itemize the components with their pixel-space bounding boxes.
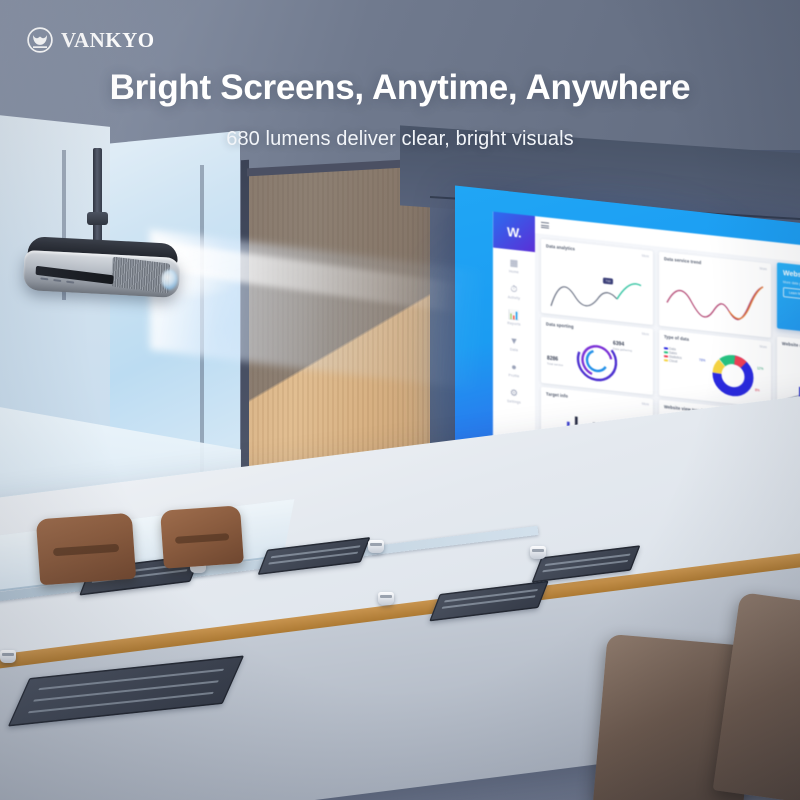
card-more-link[interactable]: More	[760, 267, 767, 272]
card-title: Type of data	[664, 334, 689, 342]
hamburger-icon[interactable]	[541, 222, 549, 231]
card-title: Target info	[546, 391, 568, 398]
page-headline: Bright Screens, Anytime, Anywhere	[0, 68, 800, 108]
projector-pole-collar	[87, 212, 108, 225]
card-type-of-data[interactable]: Type of data More Data Sales Statistics …	[659, 330, 771, 408]
promo-subtitle: More data gathering	[783, 280, 800, 287]
legend-label: Cloud	[669, 359, 677, 364]
chart-tooltip: 710	[603, 278, 613, 285]
line-chart	[541, 261, 653, 323]
kpi-label: Total service	[547, 361, 563, 367]
card-title: Data sporting	[546, 321, 574, 329]
card-title: Website service	[782, 341, 800, 350]
ceiling-mounted-projector[interactable]	[23, 236, 182, 300]
vankyo-circle-crown-icon	[26, 26, 54, 54]
donut-chart	[705, 348, 761, 404]
dashboard-logo: W.	[493, 212, 535, 253]
card-data-service-trend[interactable]: Data service trend More	[659, 252, 771, 338]
card-title: Data service trend	[664, 256, 701, 265]
page-subheadline: 680 lumens deliver clear, bright visuals	[0, 128, 800, 151]
projector-ceiling-pole	[93, 148, 102, 243]
sidebar-item-profile[interactable]: ● Profile	[493, 360, 535, 381]
banner-stage: W. ▦ Home ⏱ Activity 📊 Reports ▼ Data	[0, 0, 800, 800]
donut-pct-label: 12%	[757, 366, 763, 371]
brand-logo[interactable]: VANKYO	[26, 26, 155, 54]
card-title: Data analytics	[546, 243, 575, 251]
donut-pct-label: 76%	[699, 358, 705, 363]
sidebar-item-settings[interactable]: ⚙ Settings	[493, 386, 535, 407]
sidebar-item-home[interactable]: ▦ Home	[493, 256, 535, 277]
donut-legend: Data Sales Statistics Cloud	[664, 346, 682, 364]
card-more-link[interactable]: More	[642, 332, 649, 337]
brand-name: VANKYO	[61, 28, 155, 53]
promo-title: Website	[783, 270, 800, 280]
card-data-analytics[interactable]: Data analytics More 710	[541, 239, 653, 325]
kpi-value: 6394 Data gathering	[613, 341, 632, 353]
line-chart	[659, 272, 771, 336]
sidebar-item-activity[interactable]: ⏱ Activity	[493, 282, 535, 303]
sidebar-item-reports[interactable]: 📊 Reports	[493, 308, 535, 329]
card-data-sporting[interactable]: Data sporting More 6394 Data gathering 8…	[541, 317, 653, 395]
table-connector-puck[interactable]	[530, 546, 546, 559]
learn-more-button[interactable]: Learn More	[783, 287, 800, 300]
promo-card-website[interactable]: Website More data gathering Learn More	[777, 262, 800, 340]
table-connector-puck[interactable]	[378, 592, 394, 605]
table-connector-puck[interactable]	[0, 650, 16, 663]
card-more-link[interactable]: More	[642, 402, 649, 407]
sidebar-item-data[interactable]: ▼ Data	[493, 334, 535, 355]
card-more-link[interactable]: More	[642, 254, 649, 259]
donut-pct-label: 8%	[755, 388, 760, 393]
kpi-value: 8286 Total service	[547, 355, 563, 367]
dashboard-sidebar: W. ▦ Home ⏱ Activity 📊 Reports ▼ Data	[493, 212, 535, 457]
table-connector-puck[interactable]	[368, 540, 384, 553]
card-more-link[interactable]: More	[760, 345, 767, 350]
